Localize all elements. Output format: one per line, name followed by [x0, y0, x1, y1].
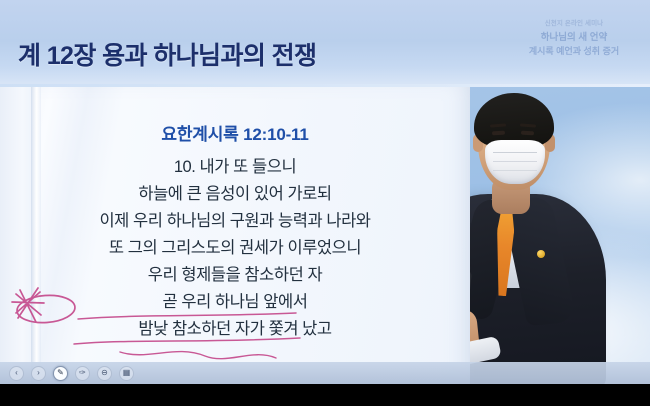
pen-icon: ✎ — [57, 369, 64, 377]
presenter-hair — [474, 93, 554, 147]
previous-slide-button[interactable]: ‹ — [9, 366, 24, 381]
verse-line: 곧 우리 하나님 앞에서 — [0, 289, 470, 316]
highlighter-tool-button[interactable]: ✑ — [75, 366, 90, 381]
verse-line: 또 그의 그리스도의 권세가 이루었으니 — [0, 235, 470, 262]
verse-line: 우리 형제들을 참소하던 자 — [0, 262, 470, 289]
pen-tool-button[interactable]: ✎ — [53, 366, 68, 381]
squiggle-annotation — [120, 352, 276, 359]
chevron-right-icon: › — [37, 369, 40, 377]
slide-grid-button[interactable]: ▦ — [119, 366, 134, 381]
verse-line: 밤낮 참소하던 자가 쫓겨 났고 — [0, 316, 470, 343]
header-divider — [0, 84, 650, 87]
page-title: 계 12장 용과 하나님과의 전쟁 — [18, 36, 316, 72]
next-slide-button[interactable]: › — [31, 366, 46, 381]
verse-line: 이제 우리 하나님의 구원과 능력과 나라와 — [0, 208, 470, 235]
verse-line: 10. 내가 또 들으니 — [0, 154, 470, 181]
video-stage: 요한계시록 12:10-11 10. 내가 또 들으니 하늘에 큰 음성이 있어… — [0, 0, 650, 406]
brand-block: 신천지 온라인 세미나 하나님의 새 언약 계시록 예언과 성취 증거 — [508, 20, 640, 58]
presentation-slide[interactable]: 요한계시록 12:10-11 10. 내가 또 들으니 하늘에 큰 음성이 있어… — [0, 86, 470, 384]
presenter-eye-left — [492, 131, 505, 136]
brand-title-line-1: 하나님의 새 언약 — [508, 32, 640, 44]
letterbox-bar — [0, 384, 650, 406]
eraser-tool-button[interactable]: ⊖ — [97, 366, 112, 381]
header-band: 계 12장 용과 하나님과의 전쟁 신천지 온라인 세미나 하나님의 새 언약 … — [0, 0, 650, 86]
presenter-eye-right — [521, 131, 534, 136]
verse-line: 하늘에 큰 음성이 있어 가로되 — [0, 181, 470, 208]
verse-reference: 요한계시록 12:10-11 — [0, 120, 470, 145]
eraser-icon: ⊖ — [101, 369, 108, 377]
grid-icon: ▦ — [123, 369, 131, 377]
highlighter-icon: ✑ — [79, 369, 86, 377]
presenter-lapel-pin — [537, 250, 545, 258]
presentation-toolbar: ‹ › ✎ ✑ ⊖ ▦ — [0, 362, 650, 384]
chevron-left-icon: ‹ — [15, 369, 18, 377]
verse-body: 10. 내가 또 들으니 하늘에 큰 음성이 있어 가로되 이제 우리 하나님의… — [0, 154, 470, 343]
brand-title-line-2: 계시록 예언과 성취 증거 — [508, 46, 640, 58]
brand-eyebrow: 신천지 온라인 세미나 — [508, 20, 640, 28]
